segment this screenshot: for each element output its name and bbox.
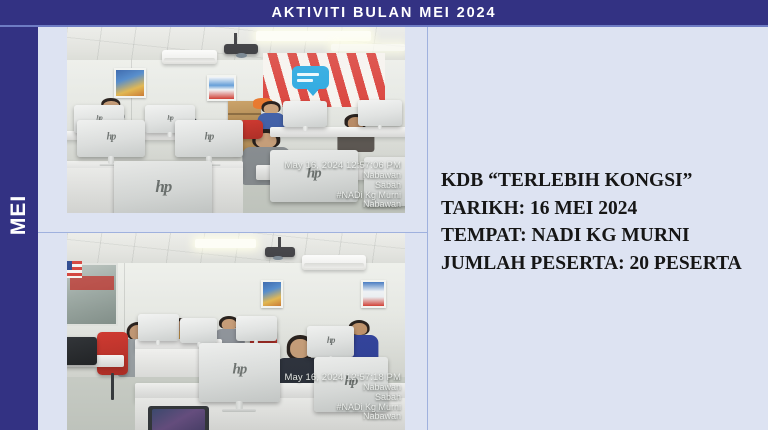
photo-timestamp-watermark: May 16, 2024 12:57:18 PM Nabawan Sabah #… (285, 373, 401, 422)
photo-computer-lab-wide-view[interactable]: hp hp hp (67, 27, 405, 213)
activity-caption: KDB “TERLEBIH KONGSI” TARIKH: 16 MEI 202… (441, 167, 766, 278)
month-label: MEI (7, 195, 31, 235)
monitor (358, 100, 402, 126)
watermark-district: Nabawan (285, 412, 401, 422)
wall-poster (361, 280, 386, 308)
air-conditioner (162, 50, 218, 64)
caption-line-venue: TEMPAT: NADI KG MURNI (441, 222, 766, 250)
signage-bubble (292, 66, 329, 89)
header-bar: AKTIVITI BULAN MEI 2024 (0, 0, 768, 25)
monitor (236, 316, 277, 342)
monitor: hp (199, 343, 280, 402)
office-chair (97, 332, 127, 375)
monitor: hp (175, 120, 243, 157)
monitor: hp (307, 326, 354, 358)
caption-line-participants: JUMLAH PESERTA: 20 PESERTA (441, 250, 766, 278)
desk-row (270, 127, 405, 136)
projector-lens (236, 53, 247, 58)
month-label-wrapper: MEI (0, 0, 38, 430)
month-sidebar: MEI (0, 0, 38, 430)
monitor: hp (77, 120, 145, 157)
monitor (180, 318, 217, 344)
caption-line-title: KDB “TERLEBIH KONGSI” (441, 167, 766, 195)
content-canvas: hp hp hp (38, 27, 768, 430)
wall-poster (207, 75, 236, 101)
office-chair (239, 120, 263, 139)
malaysia-flag (67, 261, 82, 279)
window-red-panel (70, 276, 114, 290)
wall-poster (114, 68, 146, 98)
caption-line-date: TARIKH: 16 MEI 2024 (441, 195, 766, 223)
wall-poster (261, 280, 283, 308)
monitor (138, 314, 179, 342)
ceiling-light (331, 44, 405, 51)
vertical-divider (427, 27, 428, 430)
watermark-district: Nabawan (285, 200, 401, 210)
monitor (283, 101, 327, 127)
laptop (148, 406, 209, 430)
photo-timestamp-watermark: May 16, 2024 12:57:06 PM Nabawan Sabah #… (285, 161, 401, 210)
monitor: hp (114, 161, 212, 213)
ceiling-light (256, 31, 371, 41)
monitor (67, 337, 97, 365)
ceiling-light (195, 239, 256, 248)
chair-leg (111, 373, 114, 401)
photo-computer-lab-participants-view[interactable]: hp hp hp May 16, 2024 12:57:18 PM Nabawa… (67, 233, 405, 430)
header-underline (0, 25, 768, 27)
air-conditioner (302, 255, 366, 271)
page-title: AKTIVITI BULAN MEI 2024 (272, 5, 497, 21)
